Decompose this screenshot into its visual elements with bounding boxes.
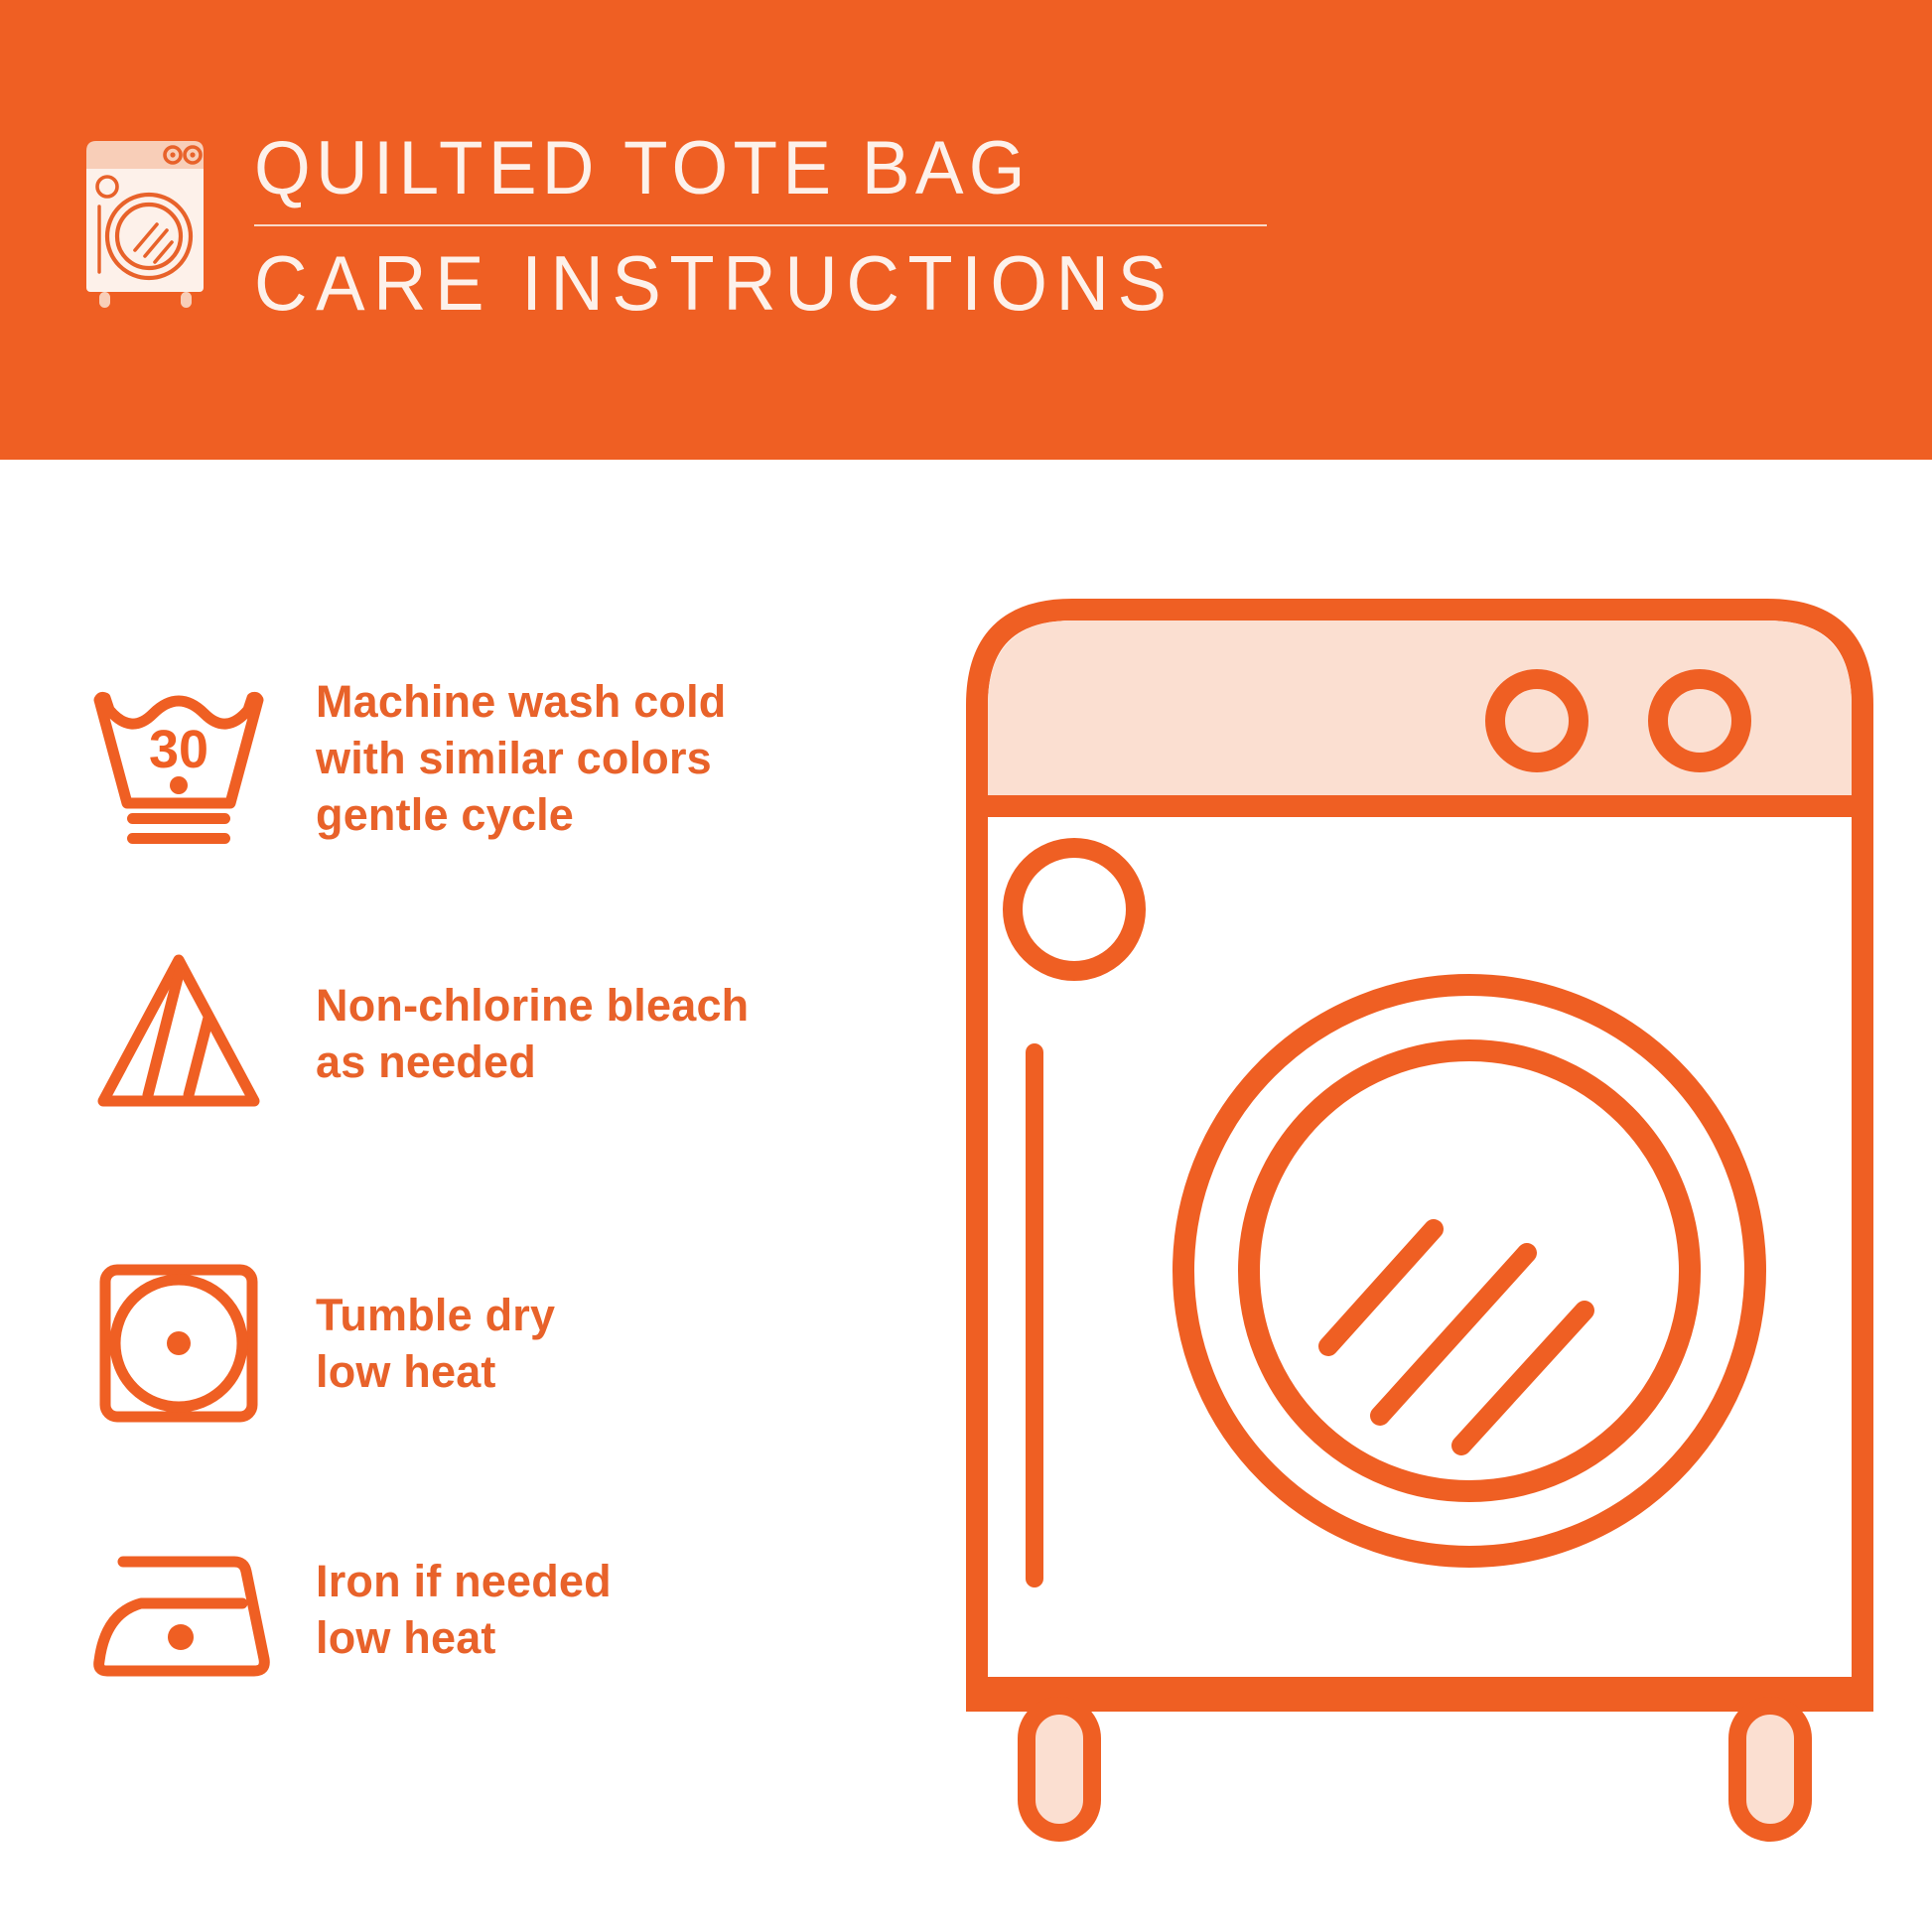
non-chlorine-bleach-triangle-icon xyxy=(79,934,278,1133)
care-text-bleach: Non-chlorine bleach as needed xyxy=(316,977,749,1090)
care-line: Machine wash cold xyxy=(316,673,727,730)
care-line: low heat xyxy=(316,1609,612,1666)
care-text-wash: Machine wash cold with similar colors ge… xyxy=(316,673,727,843)
care-line: Non-chlorine bleach xyxy=(316,977,749,1034)
foot-left xyxy=(1027,1706,1092,1833)
header-banner: QUILTED TOTE BAG CARE INSTRUCTIONS xyxy=(0,0,1932,460)
care-text-iron: Iron if needed low heat xyxy=(316,1553,612,1666)
tumble-dry-low-icon xyxy=(79,1244,278,1443)
page-subtitle: CARE INSTRUCTIONS xyxy=(254,240,1216,326)
care-line: Tumble dry xyxy=(316,1287,555,1343)
header-titles: QUILTED TOTE BAG CARE INSTRUCTIONS xyxy=(254,127,1267,326)
wash-basin-30-gentle-icon: 30 xyxy=(79,658,278,857)
header-content: QUILTED TOTE BAG CARE INSTRUCTIONS xyxy=(77,127,1267,326)
care-line: as needed xyxy=(316,1034,749,1090)
care-instructions-list: 30 Machine wash cold with similar colors… xyxy=(0,460,953,1932)
title-divider xyxy=(254,224,1267,226)
machine-base xyxy=(966,1678,1873,1712)
care-line: low heat xyxy=(316,1343,555,1400)
foot-right xyxy=(1737,1706,1803,1833)
knob-left xyxy=(1495,679,1579,762)
care-line: Iron if needed xyxy=(316,1553,612,1609)
washing-machine-icon xyxy=(77,133,226,310)
wash-temperature-label: 30 xyxy=(149,720,208,779)
page-title: QUILTED TOTE BAG xyxy=(254,127,1226,210)
care-row-wash: 30 Machine wash cold with similar colors… xyxy=(79,658,933,857)
washing-machine-illustration xyxy=(953,586,1886,1886)
care-text-tumble-dry: Tumble dry low heat xyxy=(316,1287,555,1400)
care-row-iron: Iron if needed low heat xyxy=(79,1510,933,1709)
care-line: with similar colors xyxy=(316,730,727,786)
care-line: gentle cycle xyxy=(316,786,727,843)
iron-low-heat-icon xyxy=(79,1510,278,1709)
knob-right xyxy=(1658,679,1741,762)
care-row-bleach: Non-chlorine bleach as needed xyxy=(79,934,933,1133)
care-row-tumble-dry: Tumble dry low heat xyxy=(79,1244,933,1443)
